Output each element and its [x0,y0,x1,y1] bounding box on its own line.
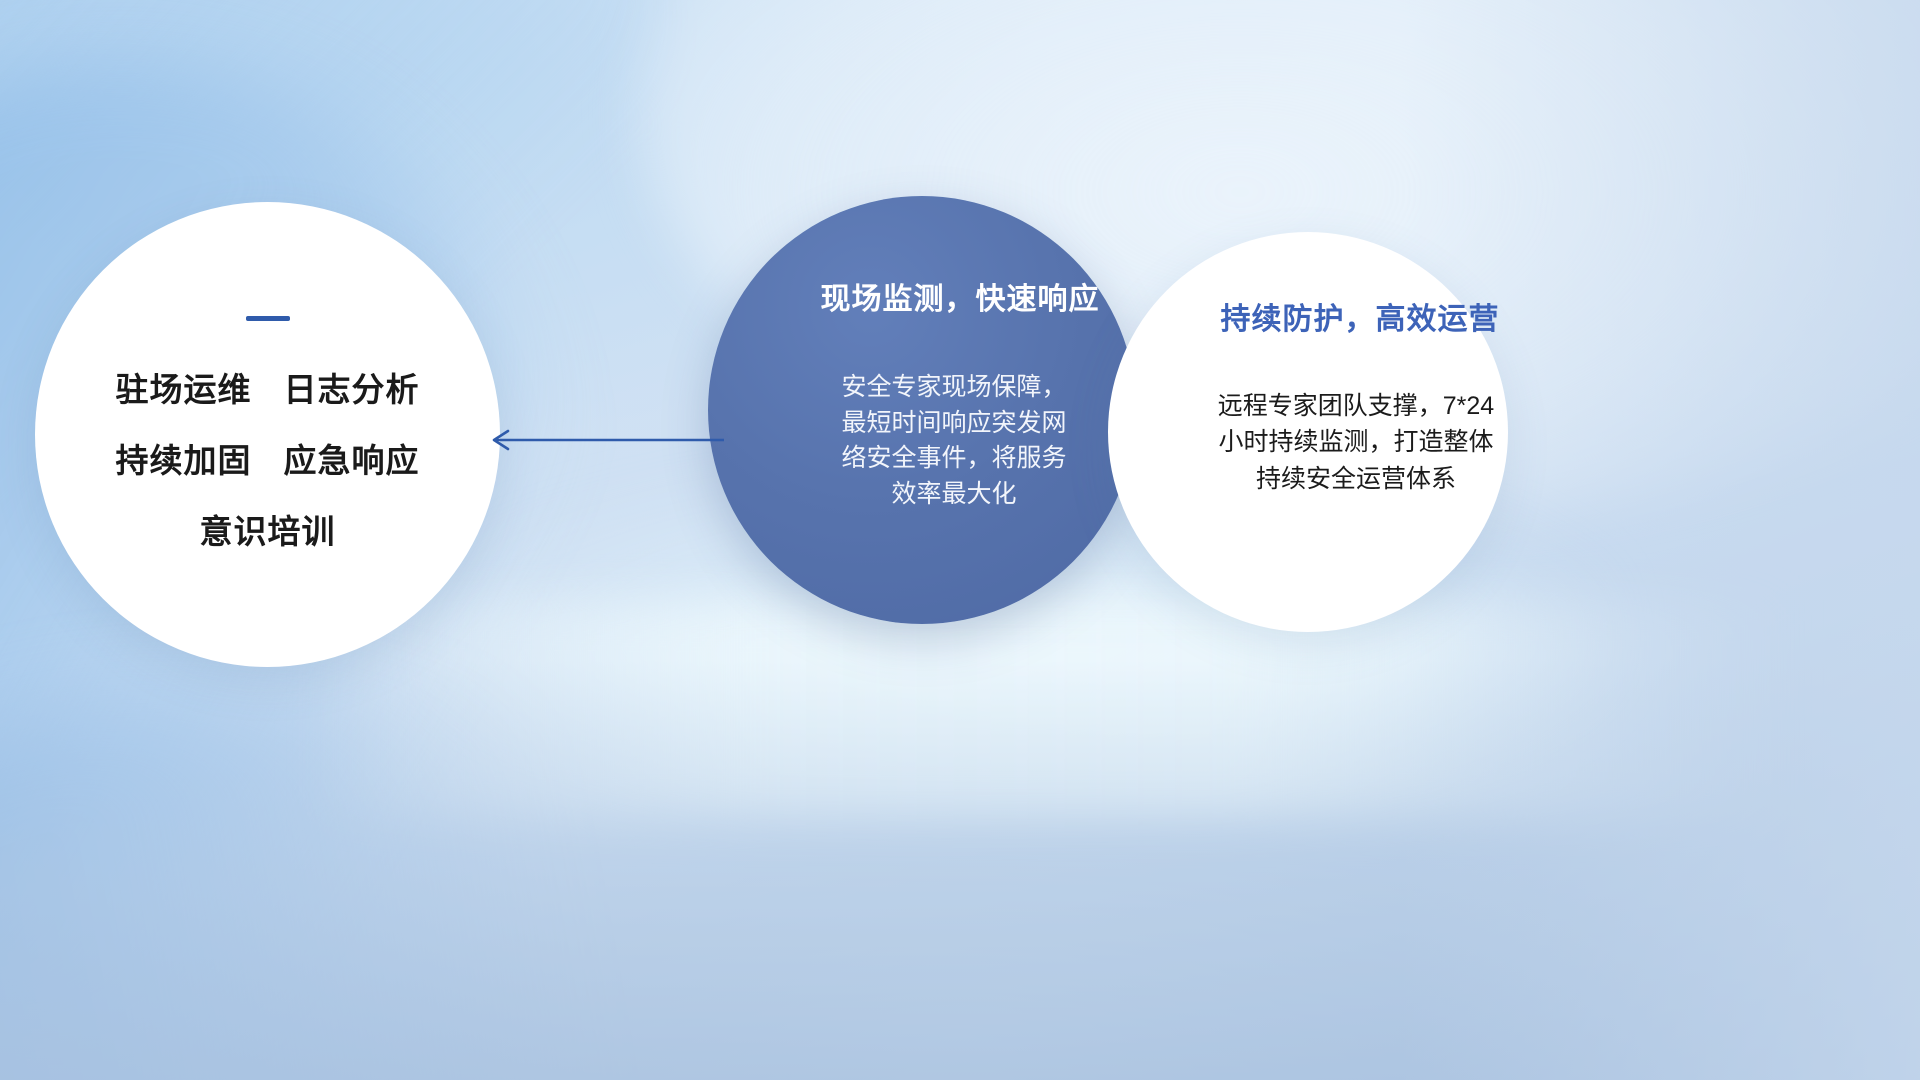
body-line: 最短时间响应突发网 [804,406,1104,442]
body-line: 效率最大化 [804,477,1104,513]
keyword-awareness-training: 意识培训 [200,505,336,553]
service-keywords-circle[interactable]: 驻场运维 日志分析 持续加固 应急响应 意识培训 [35,202,500,667]
continuous-protection-content: 持续防护，高效运营 远程专家团队支撑，7*24 小时持续监测，打造整体 持续安全… [1108,232,1508,632]
keyword-rows: 驻场运维 日志分析 持续加固 应急响应 意识培训 [116,363,420,553]
keyword-log-analysis: 日志分析 [284,363,420,411]
keyword-row: 驻场运维 日志分析 [116,363,420,411]
keyword-emergency-response: 应急响应 [284,434,420,482]
keyword-row: 意识培训 [200,505,336,553]
onsite-monitoring-content: 现场监测，快速响应 安全专家现场保障， 最短时间响应突发网 络安全事件，将服务 … [708,196,1136,624]
keyword-row: 持续加固 应急响应 [116,434,420,482]
service-keywords-content: 驻场运维 日志分析 持续加固 应急响应 意识培训 [35,202,500,667]
onsite-monitoring-body: 安全专家现场保障， 最短时间响应突发网 络安全事件，将服务 效率最大化 [804,370,1104,512]
keyword-onsite-ops: 驻场运维 [116,363,252,411]
continuous-protection-circle[interactable]: 持续防护，高效运营 远程专家团队支撑，7*24 小时持续监测，打造整体 持续安全… [1108,232,1508,632]
body-line: 远程专家团队支撑，7*24 [1176,388,1536,424]
keyword-continuous-hardening: 持续加固 [116,434,252,482]
body-line: 安全专家现场保障， [804,370,1104,406]
continuous-protection-body: 远程专家团队支撑，7*24 小时持续监测，打造整体 持续安全运营体系 [1176,388,1536,497]
onsite-monitoring-heading: 现场监测，快速响应 [821,274,1100,318]
body-line: 小时持续监测，打造整体 [1176,424,1536,460]
continuous-protection-heading: 持续防护，高效运营 [1221,294,1500,338]
body-line: 持续安全运营体系 [1176,461,1536,497]
onsite-monitoring-circle[interactable]: 现场监测，快速响应 安全专家现场保障， 最短时间响应突发网 络安全事件，将服务 … [708,196,1136,624]
title-divider [246,316,290,321]
diagram-stage: 驻场运维 日志分析 持续加固 应急响应 意识培训 现场监测，快速响应 安全专家现… [0,0,1920,1080]
flow-arrow-left [480,418,725,462]
body-line: 络安全事件，将服务 [804,441,1104,477]
